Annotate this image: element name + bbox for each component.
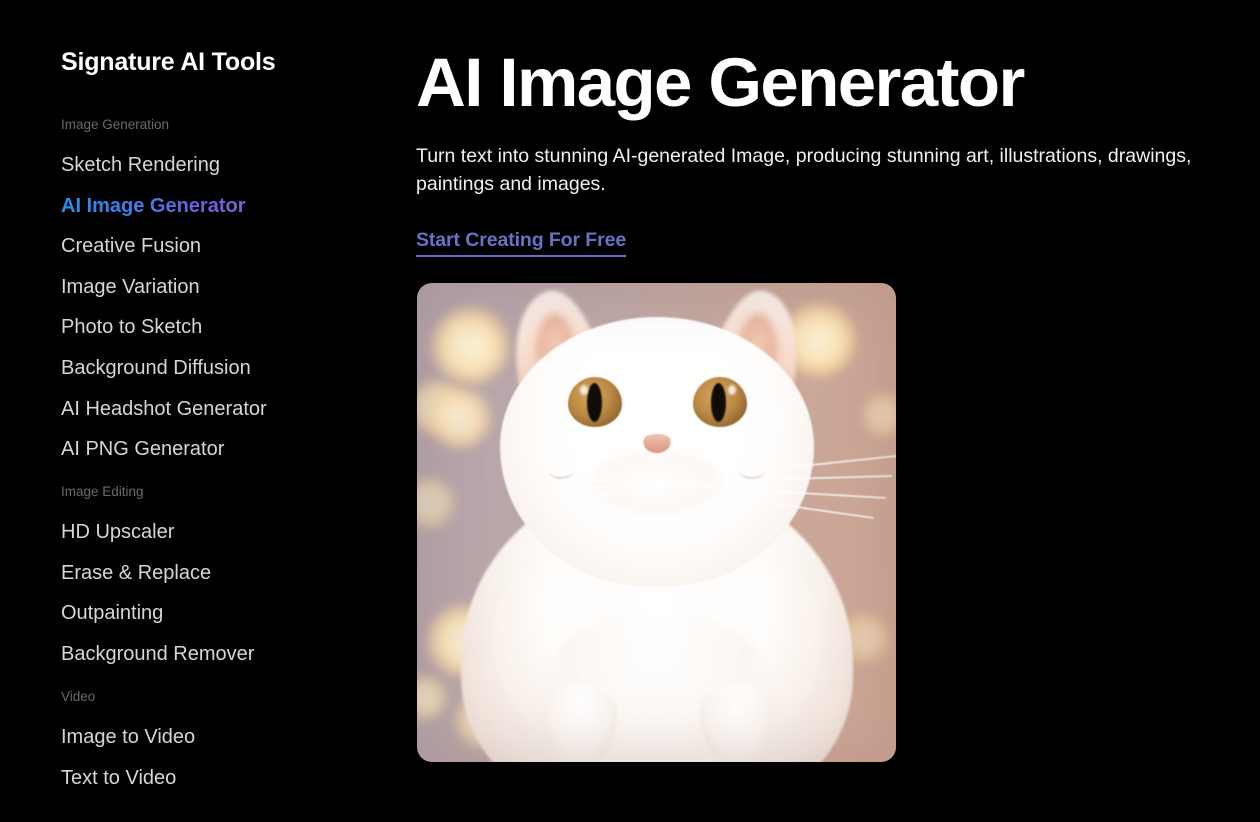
sidebar-item-image-to-video[interactable]: Image to Video [61,717,195,758]
cat-right-eye-glint [728,385,736,395]
nav-group: Image EditingHD UpscalerErase & ReplaceO… [61,474,400,675]
sidebar-item-hd-upscaler[interactable]: HD Upscaler [61,512,174,553]
nav-group: Image GenerationSketch RenderingAI Image… [61,107,400,470]
bokeh-light [431,307,509,385]
sidebar-nav: Image GenerationSketch RenderingAI Image… [61,107,400,799]
sidebar-item-ai-headshot-generator[interactable]: AI Headshot Generator [61,389,267,430]
start-creating-for-free-link[interactable]: Start Creating For Free [416,229,626,257]
hero-image[interactable] [417,283,896,762]
cat-left-pupil [587,383,602,422]
nav-group-label: Image Generation [61,107,400,146]
bokeh-light [862,393,896,437]
sidebar-title: Signature AI Tools [61,49,400,77]
sidebar-item-sketch-rendering[interactable]: Sketch Rendering [61,145,220,186]
cat-mouth-left [548,461,574,479]
sidebar-item-ai-png-generator[interactable]: AI PNG Generator [61,429,224,470]
main-content: AI Image Generator Turn text into stunni… [416,0,1260,822]
cat-right-pupil [711,383,726,422]
sidebar-item-image-variation[interactable]: Image Variation [61,267,200,308]
nav-group-label: Video [61,679,400,718]
cat-right-paw [700,685,774,762]
sidebar-item-background-remover[interactable]: Background Remover [61,634,254,675]
cat-left-paw [543,685,617,762]
bokeh-light [417,675,447,721]
bokeh-light [429,387,491,449]
sidebar-item-ai-image-generator[interactable]: AI Image Generator [61,186,246,227]
sidebar-item-background-diffusion[interactable]: Background Diffusion [61,348,251,389]
page-title: AI Image Generator [416,48,1260,117]
sidebar-item-photo-to-sketch[interactable]: Photo to Sketch [61,307,202,348]
sidebar-item-erase-replace[interactable]: Erase & Replace [61,553,211,594]
page-description: Turn text into stunning AI-generated Ima… [416,142,1216,198]
nav-group-label: Image Editing [61,474,400,513]
nav-group: VideoImage to VideoText to Video [61,679,400,799]
bokeh-light [417,477,455,529]
sidebar: Signature AI Tools Image GenerationSketc… [0,0,400,822]
app-root: Signature AI Tools Image GenerationSketc… [0,0,1260,822]
sidebar-item-creative-fusion[interactable]: Creative Fusion [61,226,201,267]
sidebar-item-text-to-video[interactable]: Text to Video [61,758,176,799]
sidebar-item-outpainting[interactable]: Outpainting [61,593,163,634]
cat-left-eye-glint [580,385,588,395]
